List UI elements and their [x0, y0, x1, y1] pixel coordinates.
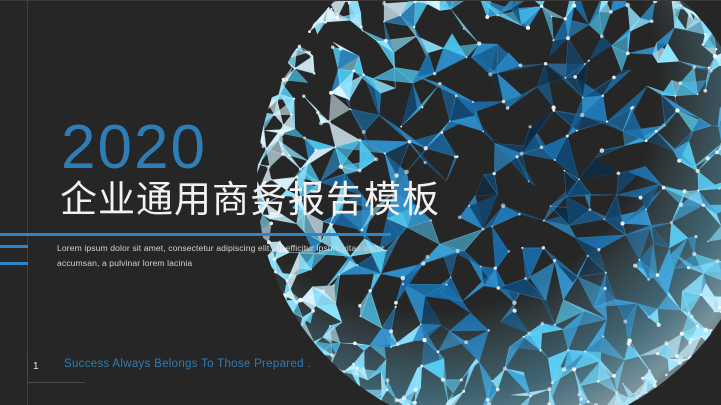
page-number: 1	[33, 361, 39, 372]
year-heading: 2020	[61, 117, 207, 179]
left-vertical-divider	[27, 1, 28, 405]
presentation-slide: 1 2020 企业通用商务报告模板 Lorem ipsum dolor sit …	[0, 0, 721, 405]
body-paragraph: Lorem ipsum dolor sit amet, consectetur …	[57, 241, 407, 271]
page-title: 企业通用商务报告模板	[60, 179, 440, 221]
accent-rule-short-bottom	[0, 262, 28, 265]
accent-rule-short-top	[0, 245, 28, 248]
footer-tagline: Success Always Belongs To Those Prepared…	[64, 358, 311, 370]
accent-rule-long	[0, 233, 391, 236]
